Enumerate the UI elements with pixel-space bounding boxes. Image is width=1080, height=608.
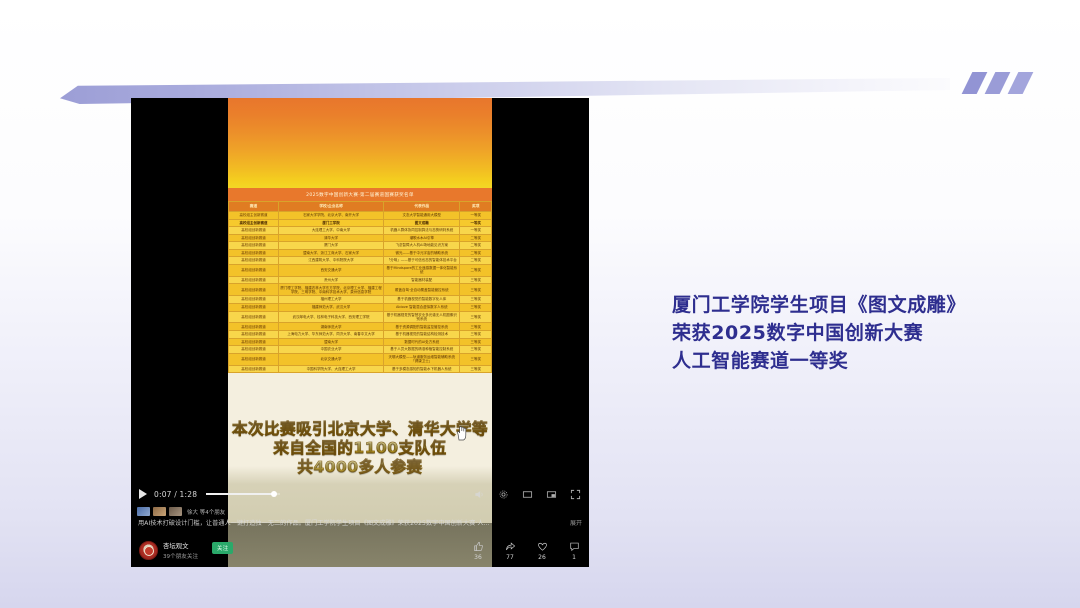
cell-school: 武汉邮电大学、桂林电子科技大学、西安理工学院 bbox=[278, 311, 383, 323]
decorative-slashes bbox=[967, 72, 1028, 94]
volume-icon[interactable] bbox=[474, 489, 485, 500]
cell-prize: 一等奖 bbox=[460, 212, 492, 220]
cell-prize: 三等奖 bbox=[460, 276, 492, 284]
cell-track: 高校组创新赛道 bbox=[229, 242, 279, 250]
cell-prize: 三等奖 bbox=[460, 296, 492, 304]
cell-work: Abiove 智能混合虚拟数字人系统 bbox=[384, 303, 460, 311]
cell-track: 高校组创新赛道 bbox=[229, 264, 279, 276]
cell-work: 天哪大模型——轨道服务运维智能辅助系统「健康卫士」 bbox=[384, 353, 460, 365]
cell-track: 高校组创新赛道 bbox=[229, 346, 279, 354]
caption-line-1: 厦门工学院学生项目《图文成雕》 bbox=[672, 292, 1052, 320]
cell-work: 潮歌水木AI引擎 bbox=[384, 234, 460, 242]
subtitle-line-2: 来自全国的1100支队伍 bbox=[135, 439, 585, 458]
cell-school: 暨南大学 bbox=[278, 338, 383, 346]
cell-work: 机器人群体协同控制算法与态势研判系统 bbox=[384, 227, 460, 235]
cell-track: 高校组创新赛道 bbox=[229, 296, 279, 304]
subtitle-line-3: 共4000多人参赛 bbox=[135, 458, 585, 477]
cell-work: 基于机器视觉的智慧农业多光谱无人机图像识别系统 bbox=[384, 311, 460, 323]
cell-track: 高校组创新赛道 bbox=[229, 257, 279, 265]
col-header-track: 赛道 bbox=[229, 202, 279, 212]
caption-line-3: 人工智能赛道一等奖 bbox=[672, 348, 1052, 376]
play-button[interactable] bbox=[139, 489, 147, 499]
cell-work: 文态大学智能通用大模型 bbox=[384, 212, 460, 220]
cell-track: 高校组创新赛道 bbox=[229, 365, 279, 373]
cell-work: 基于Mindspore的工业遥感数据一体化智能系统 bbox=[384, 264, 460, 276]
award-table-row: 高校组创新赛道福建师范大学、武汉大学Abiove 智能混合虚拟数字人系统三等奖 bbox=[229, 303, 492, 311]
cell-school: 中国科学院大学、大连理工大学 bbox=[278, 365, 383, 373]
award-table-row: 高校组创新赛道厦门理工学院、福建农林大学东方学院、北京理工大学、福建工程学院、三… bbox=[229, 284, 492, 296]
award-table-row: 高校组创新赛道上海电力大学、华东师范大学、同济大学、南春中文大学基于机器视觉的智… bbox=[229, 331, 492, 339]
award-table-row: 高校组创新赛道厦门大学飞念智障大人机AI场地能见识方案二等奖 bbox=[229, 242, 492, 250]
cell-work: 基于多模态感知的智能水下机器人系统 bbox=[384, 365, 460, 373]
cell-work: 智能器材装配 bbox=[384, 276, 460, 284]
seek-handle[interactable] bbox=[271, 491, 277, 497]
slash-shape-3 bbox=[1008, 72, 1034, 94]
cell-track: 高校组创新赛道 bbox=[229, 311, 279, 323]
cell-school: 清华大学 bbox=[278, 234, 383, 242]
cell-prize: 二等奖 bbox=[460, 264, 492, 276]
player-controls[interactable]: 0:07 / 1:28 bbox=[131, 483, 589, 505]
award-table: 赛道 学校/企业名称 代表作品 奖项 高校组主创新赛道石家大学学院、北京大学、南… bbox=[228, 201, 492, 373]
cell-school: 上海电力大学、华东师范大学、同济大学、南春中文大学 bbox=[278, 331, 383, 339]
cell-track: 高校组创新赛道 bbox=[229, 331, 279, 339]
slide-canvas: 2025数字中国创新大赛·第二届赛道国赛获奖名单 赛道 学校/企业名称 代表作品… bbox=[0, 0, 1080, 608]
cell-track: 高校组创新赛道 bbox=[229, 227, 279, 235]
award-table-row: 高校组创新赛道福州理工大学基于机器视觉的智能数字化人体三等奖 bbox=[229, 296, 492, 304]
cell-track: 高校组创新赛道 bbox=[229, 249, 279, 257]
cell-work: 基于机器视觉的智能结构检测技术 bbox=[384, 331, 460, 339]
award-table-row: 高校组创新赛道清华大学潮歌水木AI引擎二等奖 bbox=[229, 234, 492, 242]
cell-track: 高校组创新赛道 bbox=[229, 284, 279, 296]
cell-work: 图文成雕 bbox=[384, 219, 460, 227]
award-table-row: 高校组创新赛道湖南师范大学基于资源调配的智能监控管控系统三等奖 bbox=[229, 323, 492, 331]
cell-prize: 三等奖 bbox=[460, 346, 492, 354]
cell-school: 厦门工学院 bbox=[278, 219, 383, 227]
col-header-work: 代表作品 bbox=[384, 202, 460, 212]
award-table-row: 高校组创新赛道贵州大学智能器材装配三等奖 bbox=[229, 276, 492, 284]
award-table-row: 高校组创新赛道中国科学院大学、大连理工大学基于多模态感知的智能水下机器人系统三等… bbox=[229, 365, 492, 373]
cell-prize: 二等奖 bbox=[460, 242, 492, 250]
theater-mode-icon[interactable] bbox=[522, 489, 533, 500]
award-table-row: 高校组创新赛道北京交通大学天哪大模型——轨道服务运维智能辅助系统「健康卫士」三等… bbox=[229, 353, 492, 365]
cell-school: 湖南师范大学 bbox=[278, 323, 383, 331]
award-table-row: 高校组主创新赛道厦门工学院图文成雕一等奖 bbox=[229, 219, 492, 227]
cell-prize: 三等奖 bbox=[460, 311, 492, 323]
cell-work: 基于机器视觉的智能数字化人体 bbox=[384, 296, 460, 304]
cell-school: 中国农业大学 bbox=[278, 346, 383, 354]
cell-school: 石家大学学院、北京大学、南开大学 bbox=[278, 212, 383, 220]
award-table-row: 高校组创新赛道西安交通大学基于Mindspore的工业遥感数据一体化智能系统二等… bbox=[229, 264, 492, 276]
cell-school: 西安交通大学 bbox=[278, 264, 383, 276]
cell-school: 暨南大学、浙江工商大学、石家大学 bbox=[278, 249, 383, 257]
picture-in-picture-icon[interactable] bbox=[546, 489, 557, 500]
video-player[interactable]: 2025数字中国创新大赛·第二届赛道国赛获奖名单 赛道 学校/企业名称 代表作品… bbox=[131, 98, 589, 567]
cell-school: 福建师范大学、武汉大学 bbox=[278, 303, 383, 311]
cell-prize: 二等奖 bbox=[460, 257, 492, 265]
cell-track: 高校组创新赛道 bbox=[229, 353, 279, 365]
cell-prize: 三等奖 bbox=[460, 323, 492, 331]
col-header-prize: 奖项 bbox=[460, 202, 492, 212]
award-table-row: 高校组创新赛道武汉邮电大学、桂林电子科技大学、西安理工学院基于机器视觉的智慧农业… bbox=[229, 311, 492, 323]
hand-cursor-icon bbox=[455, 425, 468, 441]
cell-prize: 三等奖 bbox=[460, 338, 492, 346]
award-table-row: 高校组创新赛道暨南大学、浙江工商大学、石家大学微光——基于中元宇宙的辅助系统二等… bbox=[229, 249, 492, 257]
award-table-row: 高校组创新赛道中国农业大学基于人员大数据的精准种植智能控制系统三等奖 bbox=[229, 346, 492, 354]
cell-school: 厦门理工学院、福建农林大学东方学院、北京理工大学、福建工程学院、三明学院、中南科… bbox=[278, 284, 383, 296]
cell-work: 「分响」——基于可信也态的智能体技术平台 bbox=[384, 257, 460, 265]
slash-shape-2 bbox=[985, 72, 1011, 94]
cell-prize: 三等奖 bbox=[460, 331, 492, 339]
cell-prize: 三等奖 bbox=[460, 353, 492, 365]
cell-work: 微光——基于中元宇宙的辅助系统 bbox=[384, 249, 460, 257]
time-display: 0:07 / 1:28 bbox=[154, 490, 197, 499]
award-table-row: 高校组创新赛道江西建筑大学、中科院院大学「分响」——基于可信也态的智能体技术平台… bbox=[229, 257, 492, 265]
award-table-row: 高校组主创新赛道石家大学学院、北京大学、南开大学文态大学智能通用大模型一等奖 bbox=[229, 212, 492, 220]
cell-prize: 三等奖 bbox=[460, 303, 492, 311]
cell-work: 数据时代的AI处方系统 bbox=[384, 338, 460, 346]
fullscreen-icon[interactable] bbox=[570, 489, 581, 500]
cell-track: 高校组主创新赛道 bbox=[229, 219, 279, 227]
cell-work: 基于人员大数据的精准种植智能控制系统 bbox=[384, 346, 460, 354]
seek-progress bbox=[206, 493, 274, 495]
cell-prize: 一等奖 bbox=[460, 219, 492, 227]
cell-school: 贵州大学 bbox=[278, 276, 383, 284]
cell-track: 高校组创新赛道 bbox=[229, 338, 279, 346]
settings-gear-icon[interactable] bbox=[498, 489, 509, 500]
award-table-row: 高校组创新赛道暨南大学数据时代的AI处方系统三等奖 bbox=[229, 338, 492, 346]
award-table-header-row: 赛道 学校/企业名称 代表作品 奖项 bbox=[229, 202, 492, 212]
slash-shape-1 bbox=[962, 72, 988, 94]
cell-school: 大连理工大学、中南大学 bbox=[278, 227, 383, 235]
award-table-title: 2025数字中国创新大赛·第二届赛道国赛获奖名单 bbox=[228, 188, 492, 201]
cell-prize: 一等奖 bbox=[460, 227, 492, 235]
cell-work: 基于资源调配的智能监控管控系统 bbox=[384, 323, 460, 331]
cell-prize: 三等奖 bbox=[460, 365, 492, 373]
cell-prize: 三等奖 bbox=[460, 284, 492, 296]
cell-prize: 二等奖 bbox=[460, 234, 492, 242]
seek-bar[interactable] bbox=[206, 493, 280, 495]
col-header-school: 学校/企业名称 bbox=[278, 202, 383, 212]
cell-track: 高校组创新赛道 bbox=[229, 303, 279, 311]
video-subtitles: 本次比赛吸引北京大学、清华大学等 来自全国的1100支队伍 共4000多人参赛 bbox=[131, 420, 589, 481]
caption-line-2: 荣获2025数字中国创新大赛 bbox=[672, 320, 1052, 348]
cell-prize: 二等奖 bbox=[460, 249, 492, 257]
cell-track: 高校组创新赛道 bbox=[229, 323, 279, 331]
cell-work: 覆盖自驾·全自动覆盖智能管控系统 bbox=[384, 284, 460, 296]
cell-track: 高校组主创新赛道 bbox=[229, 212, 279, 220]
cell-track: 高校组创新赛道 bbox=[229, 276, 279, 284]
cell-school: 厦门大学 bbox=[278, 242, 383, 250]
cell-work: 飞念智障大人机AI场地能见识方案 bbox=[384, 242, 460, 250]
subtitle-line-1: 本次比赛吸引北京大学、清华大学等 bbox=[135, 420, 585, 439]
cell-track: 高校组创新赛道 bbox=[229, 234, 279, 242]
slide-caption: 厦门工学院学生项目《图文成雕》 荣获2025数字中国创新大赛 人工智能赛道一等奖 bbox=[672, 292, 1052, 376]
award-table-row: 高校组创新赛道大连理工大学、中南大学机器人群体协同控制算法与态势研判系统一等奖 bbox=[229, 227, 492, 235]
cell-school: 江西建筑大学、中科院院大学 bbox=[278, 257, 383, 265]
poster-gradient bbox=[228, 98, 492, 188]
cell-school: 福州理工大学 bbox=[278, 296, 383, 304]
cell-school: 北京交通大学 bbox=[278, 353, 383, 365]
